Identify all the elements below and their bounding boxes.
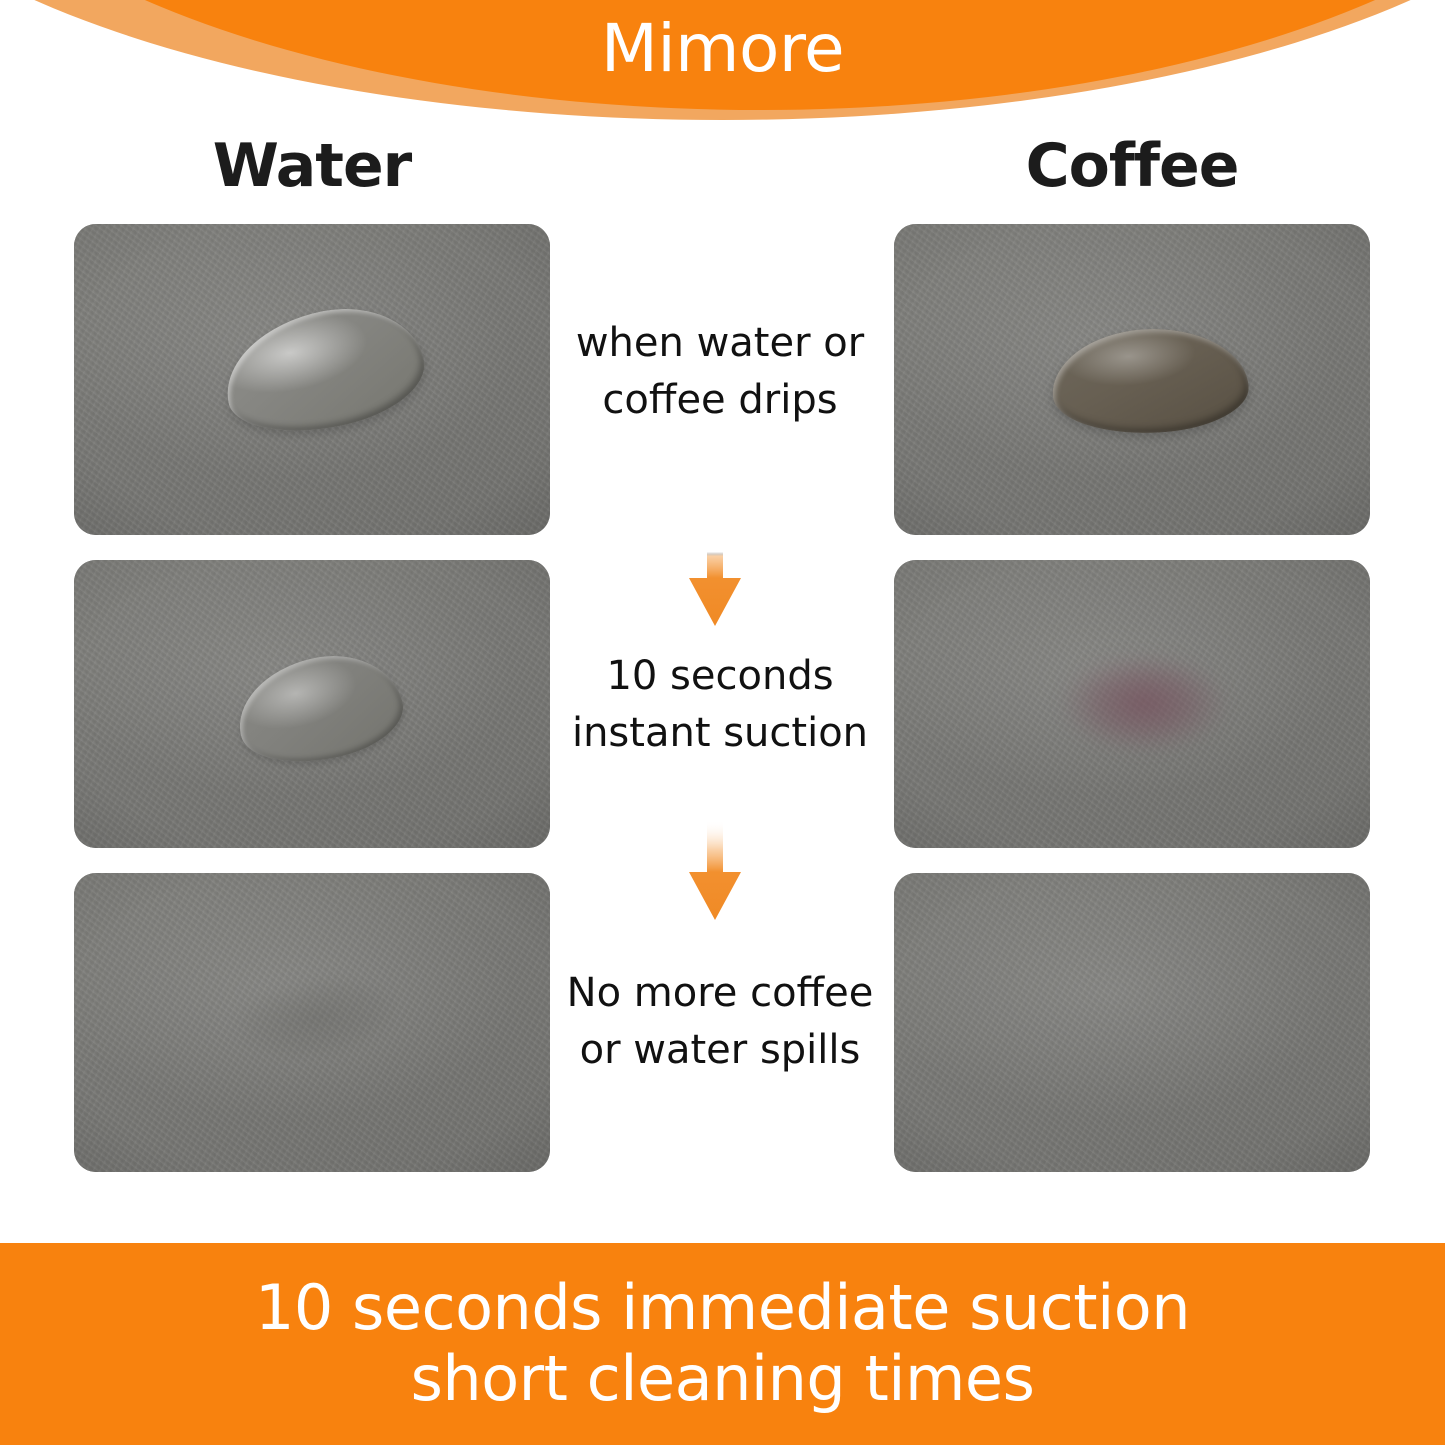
down-arrow-icon-2 — [683, 818, 747, 922]
panel-vignette — [74, 224, 550, 535]
panel-vignette — [74, 560, 550, 848]
column-heading-water: Water — [74, 136, 550, 196]
brand-title: Mimore — [0, 16, 1445, 82]
panel-coffee-clean — [894, 873, 1370, 1172]
down-arrow-icon-1 — [683, 524, 747, 628]
footer-banner: 10 seconds immediate suction short clean… — [0, 1243, 1445, 1445]
panel-coffee-spill — [894, 224, 1370, 535]
panel-water-clean — [74, 873, 550, 1172]
footer-line-1: 10 seconds immediate suction — [255, 1273, 1190, 1344]
infographic-page: Mimore Water Coffee whe — [0, 0, 1445, 1445]
step-caption-1: when water or coffee drips — [560, 315, 880, 429]
panel-water-spill — [74, 224, 550, 535]
panel-vignette — [894, 560, 1370, 848]
panel-vignette — [894, 873, 1370, 1172]
step-caption-3: No more coffee or water spills — [560, 965, 880, 1079]
column-heading-coffee: Coffee — [894, 136, 1370, 196]
panel-coffee-absorbing — [894, 560, 1370, 848]
panel-water-absorbing — [74, 560, 550, 848]
panel-vignette — [74, 873, 550, 1172]
footer-line-2: short cleaning times — [411, 1344, 1035, 1415]
panel-vignette — [894, 224, 1370, 535]
step-caption-2: 10 seconds instant suction — [560, 648, 880, 762]
